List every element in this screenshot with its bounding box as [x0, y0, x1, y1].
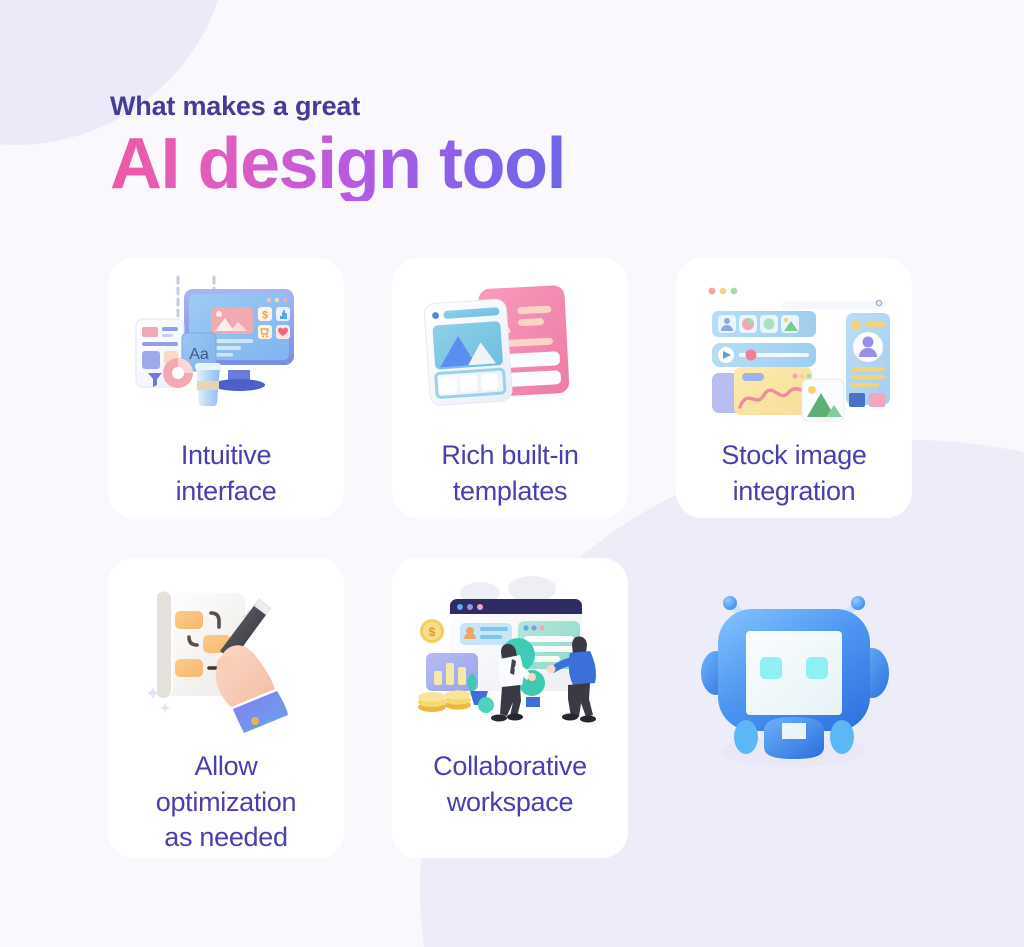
card-label: Rich built-intemplates: [441, 438, 578, 509]
svg-text:$: $: [428, 625, 435, 639]
feature-card-collaborative-workspace[interactable]: $: [392, 558, 628, 858]
robot-mascot-illustration: [676, 570, 912, 780]
robot-mascot: [676, 558, 912, 858]
hand-magic-wand-illustration: [121, 570, 331, 725]
heading-block: What makes a great AI design tool: [110, 92, 565, 201]
page-title: AI design tool: [110, 128, 565, 201]
infographic-page: What makes a great AI design tool: [0, 0, 1024, 947]
feature-card-stock-image[interactable]: Stock imageintegration: [676, 258, 912, 518]
design-workspace-illustration: $: [121, 270, 331, 420]
svg-text:$: $: [262, 310, 268, 322]
card-label: Stock imageintegration: [721, 438, 866, 509]
card-label: Collaborativeworkspace: [433, 749, 587, 820]
feature-card-grid: $: [108, 258, 916, 858]
kicker-text: What makes a great: [110, 92, 565, 122]
feature-card-intuitive-interface[interactable]: $: [108, 258, 344, 518]
feature-card-allow-optimization[interactable]: Allowoptimizationas needed: [108, 558, 344, 858]
template-cards-illustration: [405, 270, 615, 420]
svg-text:Aa: Aa: [189, 346, 209, 363]
team-dashboard-illustration: $: [405, 570, 615, 725]
card-label: Allowoptimizationas needed: [156, 749, 296, 856]
stock-media-library-illustration: [689, 270, 899, 420]
card-label: Intuitiveinterface: [176, 438, 277, 509]
feature-card-rich-templates[interactable]: Rich built-intemplates: [392, 258, 628, 518]
